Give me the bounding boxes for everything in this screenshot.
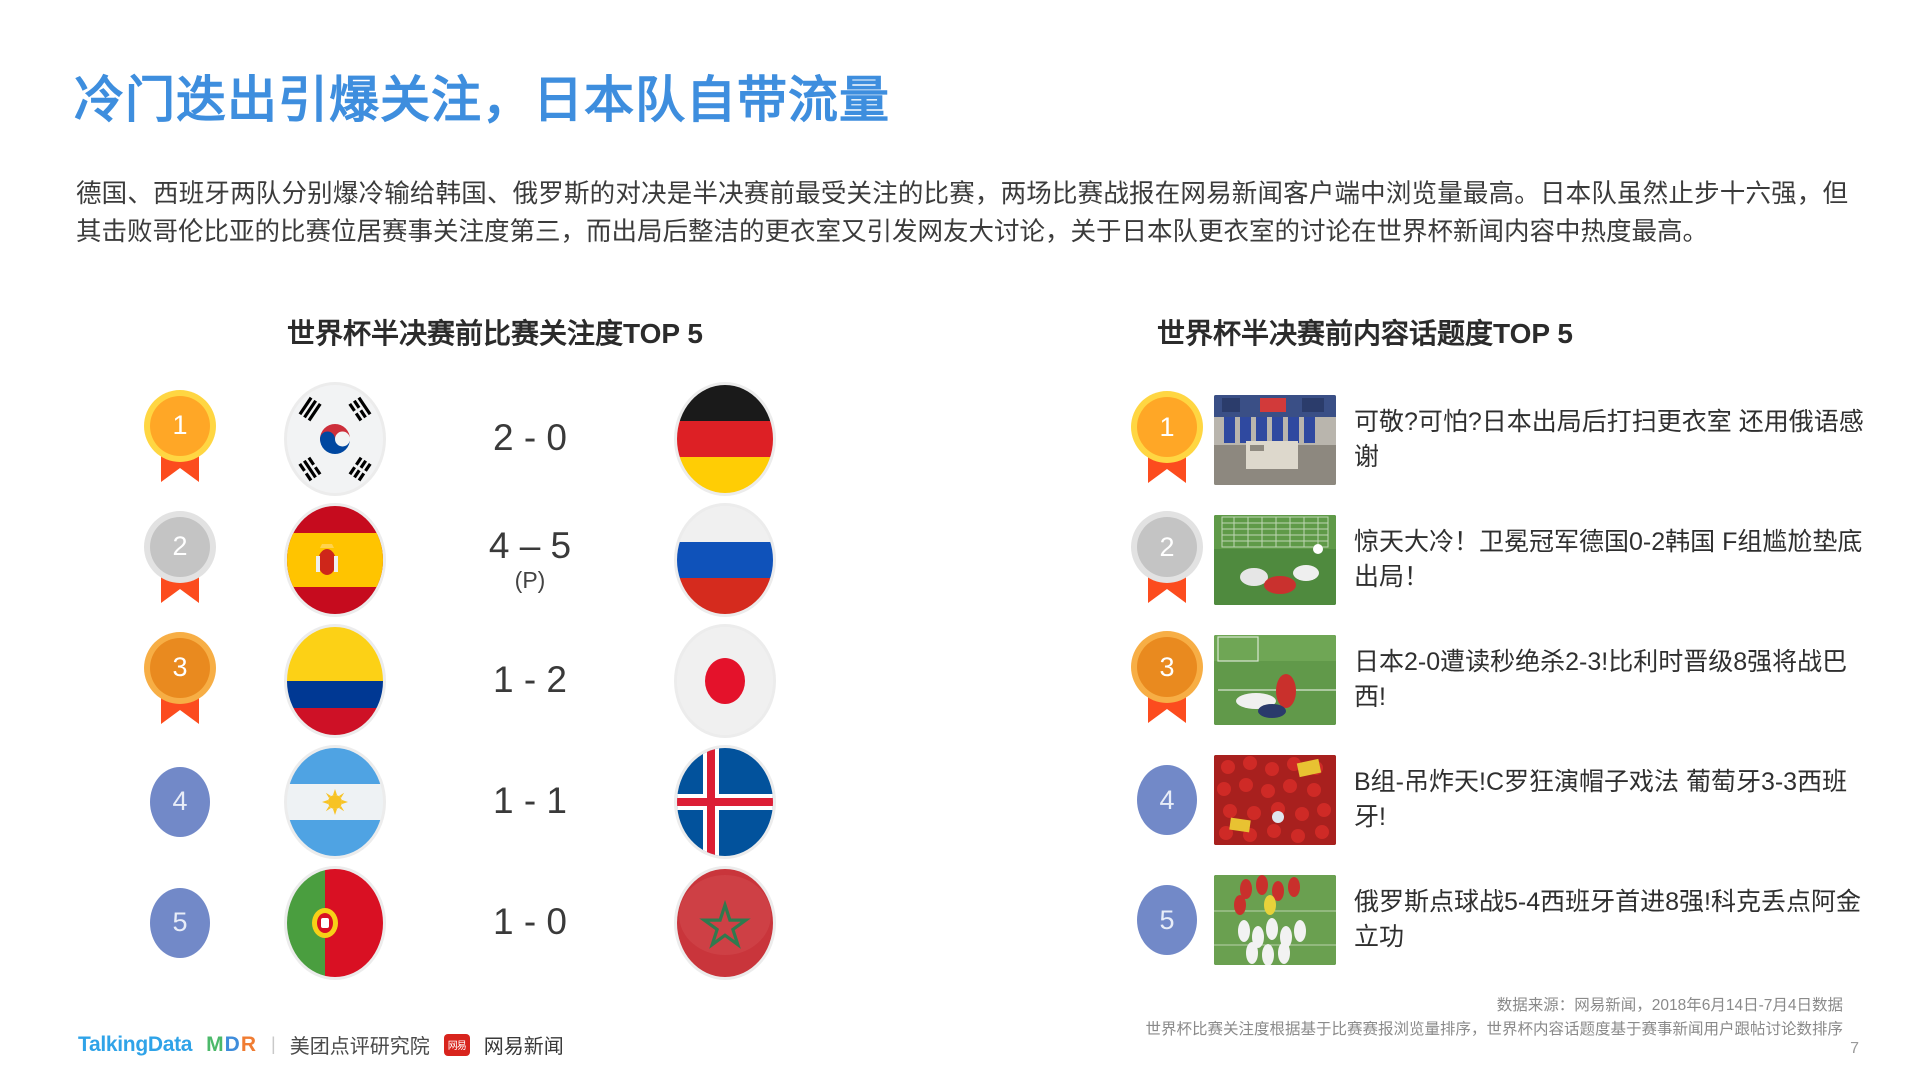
logo-divider: | [271,1034,276,1055]
match-list: 1 [120,378,920,983]
flag-co-icon [287,627,383,735]
flag-cell-left [240,627,430,735]
table-row: 5 1 - 0 [120,862,920,983]
flag-ma-icon [677,869,773,977]
medal-gold-icon: 1 [150,396,210,482]
rank-cell: 3 [1120,637,1214,723]
table-row: 1 [120,378,920,499]
table-row: 4 1 - 1 [120,741,920,862]
rank-cell: 4 [1120,765,1214,835]
rank-cell: 4 [120,767,240,837]
news-thumbnail-pitch-players [1214,635,1336,725]
rank-number: 1 [150,396,210,456]
rank-badge-4: 4 [1137,765,1197,835]
table-row: 2 4 [120,499,920,620]
list-item[interactable]: 5 [1120,860,1910,980]
flag-kr-icon [287,385,383,493]
flag-es-icon [287,506,383,614]
flag-cell-right [630,506,820,614]
rank-number: 2 [1137,517,1197,577]
score-cell: 1 - 2 [430,661,630,700]
news-thumbnail-goal-save [1214,515,1336,605]
flag-cell-left [240,869,430,977]
news-title: 俄罗斯点球战5-4西班牙首进8强!科克丢点阿金立功 [1354,885,1874,955]
table-row: 3 1 - 2 [120,620,920,741]
score-value: 1 - 2 [493,659,567,700]
list-item[interactable]: 1 [1120,380,1910,500]
penalty-note: (P) [430,568,630,592]
news-title: 日本2-0遭读秒绝杀2-3!比利时晋级8强将战巴西! [1354,645,1874,715]
rank-number: 3 [1137,637,1197,697]
rank-badge-4: 4 [150,767,210,837]
score-cell: 4 – 5 (P) [430,527,630,592]
flag-cell-right [630,748,820,856]
medal-gold-icon: 1 [1137,397,1197,483]
flag-cell-left [240,748,430,856]
flag-ru-icon [677,506,773,614]
talkingdata-logo: TalkingData [78,1033,192,1057]
news-thumbnail-red-crowd [1214,755,1336,845]
left-panel-heading: 世界杯半决赛前比赛关注度TOP 5 [287,312,703,352]
news-title: 可敬?可怕?日本出局后打扫更衣室 还用俄语感谢 [1354,405,1874,475]
slide-root: 冷门迭出引爆关注，日本队自带流量 德国、西班牙两队分别爆冷输给韩国、俄罗斯的对决… [0,0,1921,1080]
rank-cell: 3 [120,638,240,724]
rank-cell: 2 [120,517,240,603]
rank-number: 2 [150,517,210,577]
rank-cell: 5 [120,888,240,958]
medal-bronze-icon: 3 [150,638,210,724]
rank-cell: 1 [120,396,240,482]
news-title: B组-吊炸天!C罗狂演帽子戏法 葡萄牙3-3西班牙! [1354,765,1874,835]
news-thumbnail-team-celebration [1214,875,1336,965]
score-value: 2 - 0 [493,417,567,458]
score-cell: 1 - 0 [430,903,630,942]
medal-bronze-icon: 3 [1137,637,1197,723]
news-thumbnail-locker-room [1214,395,1336,485]
medal-silver-icon: 2 [150,517,210,603]
rank-cell: 1 [1120,397,1214,483]
meituan-research-logo: 美团点评研究院 [290,1030,430,1059]
page-title: 冷门迭出引爆关注，日本队自带流量 [74,60,890,132]
source-note: 数据来源：网易新闻，2018年6月14日-7月4日数据 世界杯比赛关注度根据基于… [1145,994,1843,1042]
flag-de-icon [677,385,773,493]
flag-pt-icon [287,869,383,977]
flag-cell-left [240,506,430,614]
right-panel-heading: 世界杯半决赛前内容话题度TOP 5 [1157,312,1573,352]
rank-cell: 2 [1120,517,1214,603]
netease-news-logo: 网易新闻 [484,1030,564,1059]
score-value: 4 – 5 [489,525,571,566]
rank-cell: 5 [1120,885,1214,955]
flag-cell-left [240,385,430,493]
score-value: 1 - 1 [493,780,567,821]
score-cell: 2 - 0 [430,419,630,458]
flag-ar-icon [287,748,383,856]
flag-jp-icon [677,627,773,735]
netease-badge-icon: 网易 [444,1034,470,1056]
list-item[interactable]: 4 [1120,740,1910,860]
news-title: 惊天大冷！卫冕冠军德国0-2韩国 F组尴尬垫底出局！ [1354,525,1874,595]
news-list: 1 [1120,380,1910,980]
flag-cell-right [630,385,820,493]
list-item[interactable]: 3 日本2-0遭读秒绝杀2-3!比利时晋级8强将战巴西! [1120,620,1910,740]
flag-is-icon [677,748,773,856]
medal-silver-icon: 2 [1137,517,1197,603]
page-number: 7 [1850,1040,1859,1058]
mdr-logo: MDR [206,1033,257,1057]
lede-paragraph: 德国、西班牙两队分别爆冷输给韩国、俄罗斯的对决是半决赛前最受关注的比赛，两场比赛… [76,175,1848,251]
rank-badge-5: 5 [1137,885,1197,955]
list-item[interactable]: 2 惊天大冷！卫冕冠军德国0-2韩国 F组尴尬垫底出局！ [1120,500,1910,620]
flag-cell-right [630,627,820,735]
rank-badge-5: 5 [150,888,210,958]
footer-logos: TalkingData MDR | 美团点评研究院 网易 网易新闻 [78,1030,564,1059]
score-value: 1 - 0 [493,901,567,942]
source-line-2: 世界杯比赛关注度根据基于比赛赛报浏览量排序，世界杯内容话题度基于赛事新闻用户跟帖… [1145,1018,1843,1042]
rank-number: 3 [150,638,210,698]
source-line-1: 数据来源：网易新闻，2018年6月14日-7月4日数据 [1145,994,1843,1018]
score-cell: 1 - 1 [430,782,630,821]
flag-cell-right [630,869,820,977]
rank-number: 1 [1137,397,1197,457]
